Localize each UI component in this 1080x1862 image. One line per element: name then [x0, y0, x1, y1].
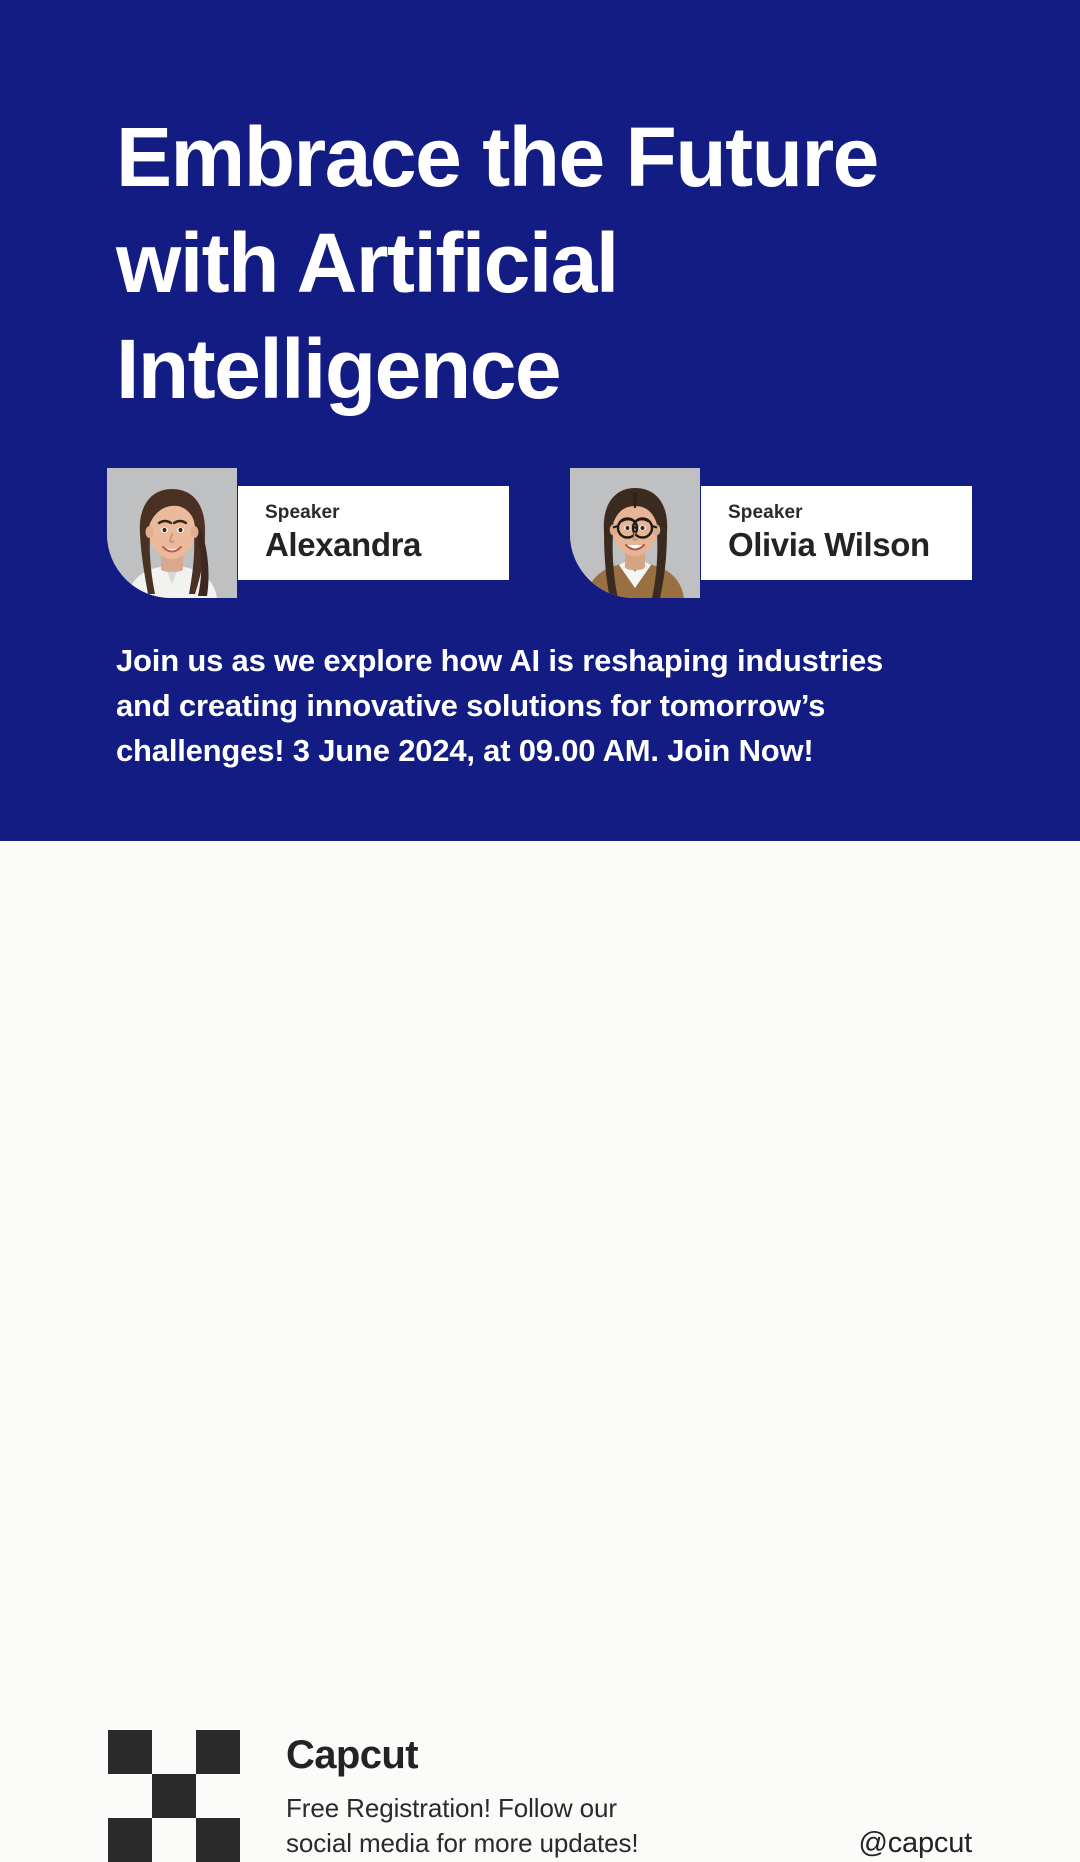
- social-handle[interactable]: @capcut: [859, 1827, 972, 1860]
- speaker-role-label: Speaker: [728, 502, 972, 524]
- logo-cell: [108, 1774, 152, 1818]
- speaker-row: Speaker Alexandra: [0, 468, 1080, 598]
- logo-cell: [196, 1818, 240, 1862]
- logo-cell: [196, 1730, 240, 1774]
- logo-cell: [152, 1774, 196, 1818]
- event-description: Join us as we explore how AI is reshapin…: [116, 638, 996, 773]
- logo-cell: [152, 1818, 196, 1862]
- brand-tagline: Free Registration! Follow our social med…: [286, 1791, 806, 1861]
- speaker-card-olivia-wilson[interactable]: Speaker Olivia Wilson: [570, 468, 972, 598]
- brand-block: Capcut Free Registration! Follow our soc…: [286, 1731, 806, 1861]
- speaker-name-label: Olivia Wilson: [728, 526, 972, 564]
- speaker-info-alexandra: Speaker Alexandra: [238, 486, 509, 580]
- speaker-avatar-alexandra: [107, 468, 237, 598]
- logo-cell: [196, 1774, 240, 1818]
- logo-cell: [108, 1730, 152, 1774]
- hero-panel: Embrace the Future with Artificial Intel…: [0, 0, 1080, 841]
- speaker-avatar-olivia-wilson: [570, 468, 700, 598]
- poster-canvas: Embrace the Future with Artificial Intel…: [0, 0, 1080, 1080]
- speaker-info-olivia-wilson: Speaker Olivia Wilson: [701, 486, 972, 580]
- speaker-role-label: Speaker: [265, 502, 509, 524]
- logo-cell: [108, 1818, 152, 1862]
- page-title: Embrace the Future with Artificial Intel…: [116, 104, 1016, 422]
- checkerboard-logo-icon: [108, 1730, 240, 1862]
- brand-name: Capcut: [286, 1731, 806, 1779]
- logo-cell: [152, 1730, 196, 1774]
- speaker-card-alexandra[interactable]: Speaker Alexandra: [107, 468, 509, 598]
- footer-panel: Capcut Free Registration! Follow our soc…: [0, 841, 1080, 1080]
- speaker-name-label: Alexandra: [265, 526, 509, 564]
